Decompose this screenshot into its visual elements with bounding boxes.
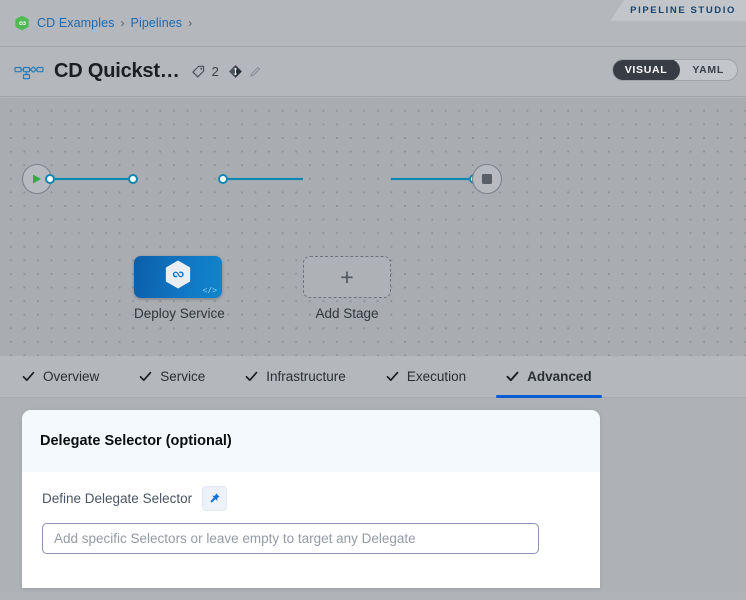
breadcrumb-separator-trailing: › bbox=[188, 16, 192, 30]
stage-node-deploy-service[interactable]: </> bbox=[134, 256, 222, 298]
mode-yaml-button[interactable]: YAML bbox=[679, 59, 737, 81]
panel-body: Define Delegate Selector bbox=[22, 472, 600, 554]
delegate-selector-input[interactable] bbox=[42, 523, 539, 554]
tab-label-service: Service bbox=[160, 369, 205, 384]
breadcrumb-item-cd-examples[interactable]: CD Examples bbox=[37, 16, 115, 30]
pin-icon[interactable] bbox=[202, 486, 227, 511]
bottom-strip bbox=[0, 592, 746, 600]
code-mark-icon: </> bbox=[203, 287, 217, 296]
panel-title: Delegate Selector (optional) bbox=[40, 433, 232, 449]
tab-label-execution: Execution bbox=[407, 369, 466, 384]
tab-overview[interactable]: Overview bbox=[0, 356, 119, 398]
tag-count: 2 bbox=[212, 64, 219, 79]
tab-infrastructure[interactable]: Infrastructure bbox=[225, 356, 366, 398]
tab-execution[interactable]: Execution bbox=[366, 356, 486, 398]
stop-square-icon bbox=[482, 174, 492, 184]
check-icon bbox=[245, 370, 258, 383]
service-hexagon-icon bbox=[164, 260, 192, 295]
stage-label-add-stage: Add Stage bbox=[303, 306, 391, 321]
git-branch-icon[interactable] bbox=[228, 64, 243, 79]
stage-input-handle bbox=[129, 175, 137, 183]
check-icon bbox=[139, 370, 152, 383]
end-node bbox=[473, 165, 502, 194]
start-node bbox=[23, 165, 55, 194]
pipeline-studio-banner: PIPELINE STUDIO bbox=[610, 0, 746, 21]
page-title: CD Quickst… bbox=[54, 60, 180, 83]
check-icon bbox=[386, 370, 399, 383]
delegate-selector-field-row: Define Delegate Selector bbox=[42, 486, 580, 511]
tab-service[interactable]: Service bbox=[119, 356, 225, 398]
tab-advanced[interactable]: Advanced bbox=[486, 356, 612, 398]
tab-label-infrastructure: Infrastructure bbox=[266, 369, 346, 384]
pipeline-studio-screen: CD Examples › Pipelines › PIPELINE STUDI… bbox=[0, 0, 746, 600]
harness-hexagon-icon bbox=[14, 15, 30, 31]
delegate-selector-label: Define Delegate Selector bbox=[42, 491, 192, 506]
pipeline-flow-icon bbox=[14, 62, 44, 82]
pencil-icon[interactable] bbox=[248, 64, 263, 79]
add-stage-button[interactable]: + bbox=[303, 256, 391, 298]
tab-label-overview: Overview bbox=[43, 369, 99, 384]
plus-icon: + bbox=[340, 266, 353, 289]
pipeline-studio-label: PIPELINE STUDIO bbox=[630, 5, 736, 16]
breadcrumb-item-pipelines[interactable]: Pipelines bbox=[131, 16, 183, 30]
advanced-panel-area: Delegate Selector (optional) Define Dele… bbox=[0, 398, 746, 600]
mode-visual-button[interactable]: VISUAL bbox=[612, 59, 681, 81]
panel-header: Delegate Selector (optional) bbox=[22, 410, 600, 472]
view-mode-toggle[interactable]: VISUAL YAML bbox=[612, 59, 738, 81]
stage-config-tabs: Overview Service Infrastructure Executio… bbox=[0, 356, 746, 398]
delegate-selector-panel: Delegate Selector (optional) Define Dele… bbox=[22, 410, 600, 588]
tab-label-advanced: Advanced bbox=[527, 369, 592, 384]
stage-output-handle bbox=[219, 175, 227, 183]
pipeline-title-bar: CD Quickst… 2 VISUAL YAML bbox=[0, 47, 746, 97]
tag-icon[interactable] bbox=[191, 64, 206, 79]
check-icon bbox=[506, 370, 519, 383]
stage-label-deploy-service: Deploy Service bbox=[134, 306, 222, 321]
check-icon bbox=[22, 370, 35, 383]
breadcrumb-bar: CD Examples › Pipelines › PIPELINE STUDI… bbox=[0, 0, 746, 47]
breadcrumb-separator: › bbox=[121, 16, 125, 30]
pipeline-canvas[interactable]: </> Deploy Service + Add Stage bbox=[0, 98, 746, 356]
